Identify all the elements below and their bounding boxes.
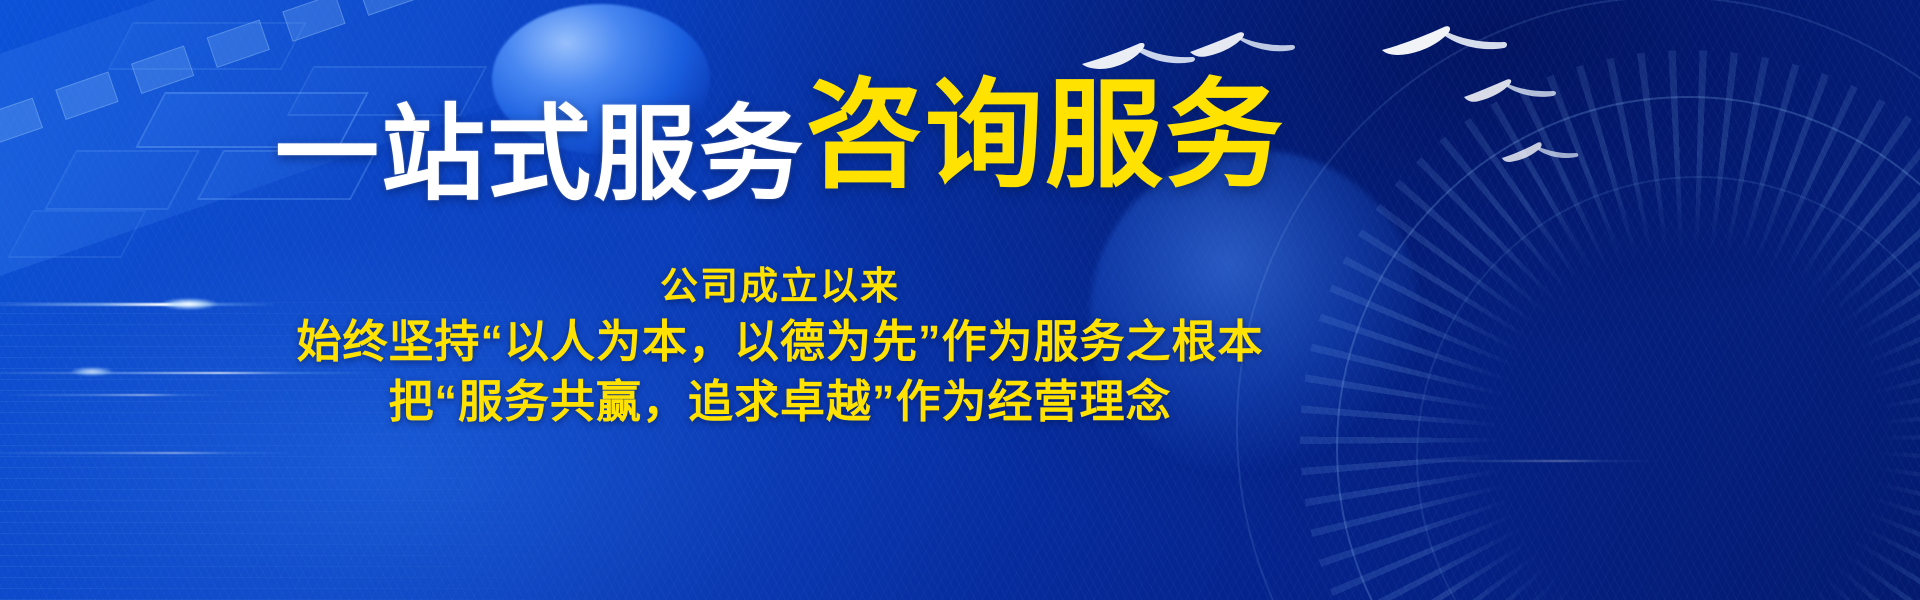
banner-content: 一站式服务咨询服务 公司成立以来 始终坚持“以人为本，以德为先”作为服务之根本 …: [0, 0, 1920, 600]
headline-accent-text: 咨询服务: [805, 70, 1285, 202]
promo-banner: 一站式服务咨询服务 公司成立以来 始终坚持“以人为本，以德为先”作为服务之根本 …: [0, 0, 1920, 600]
banner-headline: 一站式服务咨询服务: [0, 88, 1560, 213]
subtext-line-3: 把“服务共赢，追求卓越”作为经营理念: [0, 372, 1560, 432]
subtext-line-2: 始终坚持“以人为本，以德为先”作为服务之根本: [0, 312, 1560, 372]
subtext-line-1: 公司成立以来: [0, 262, 1560, 312]
banner-subtext-block: 公司成立以来 始终坚持“以人为本，以德为先”作为服务之根本 把“服务共赢，追求卓…: [0, 262, 1560, 432]
headline-primary-text: 一站式服务: [275, 97, 805, 213]
